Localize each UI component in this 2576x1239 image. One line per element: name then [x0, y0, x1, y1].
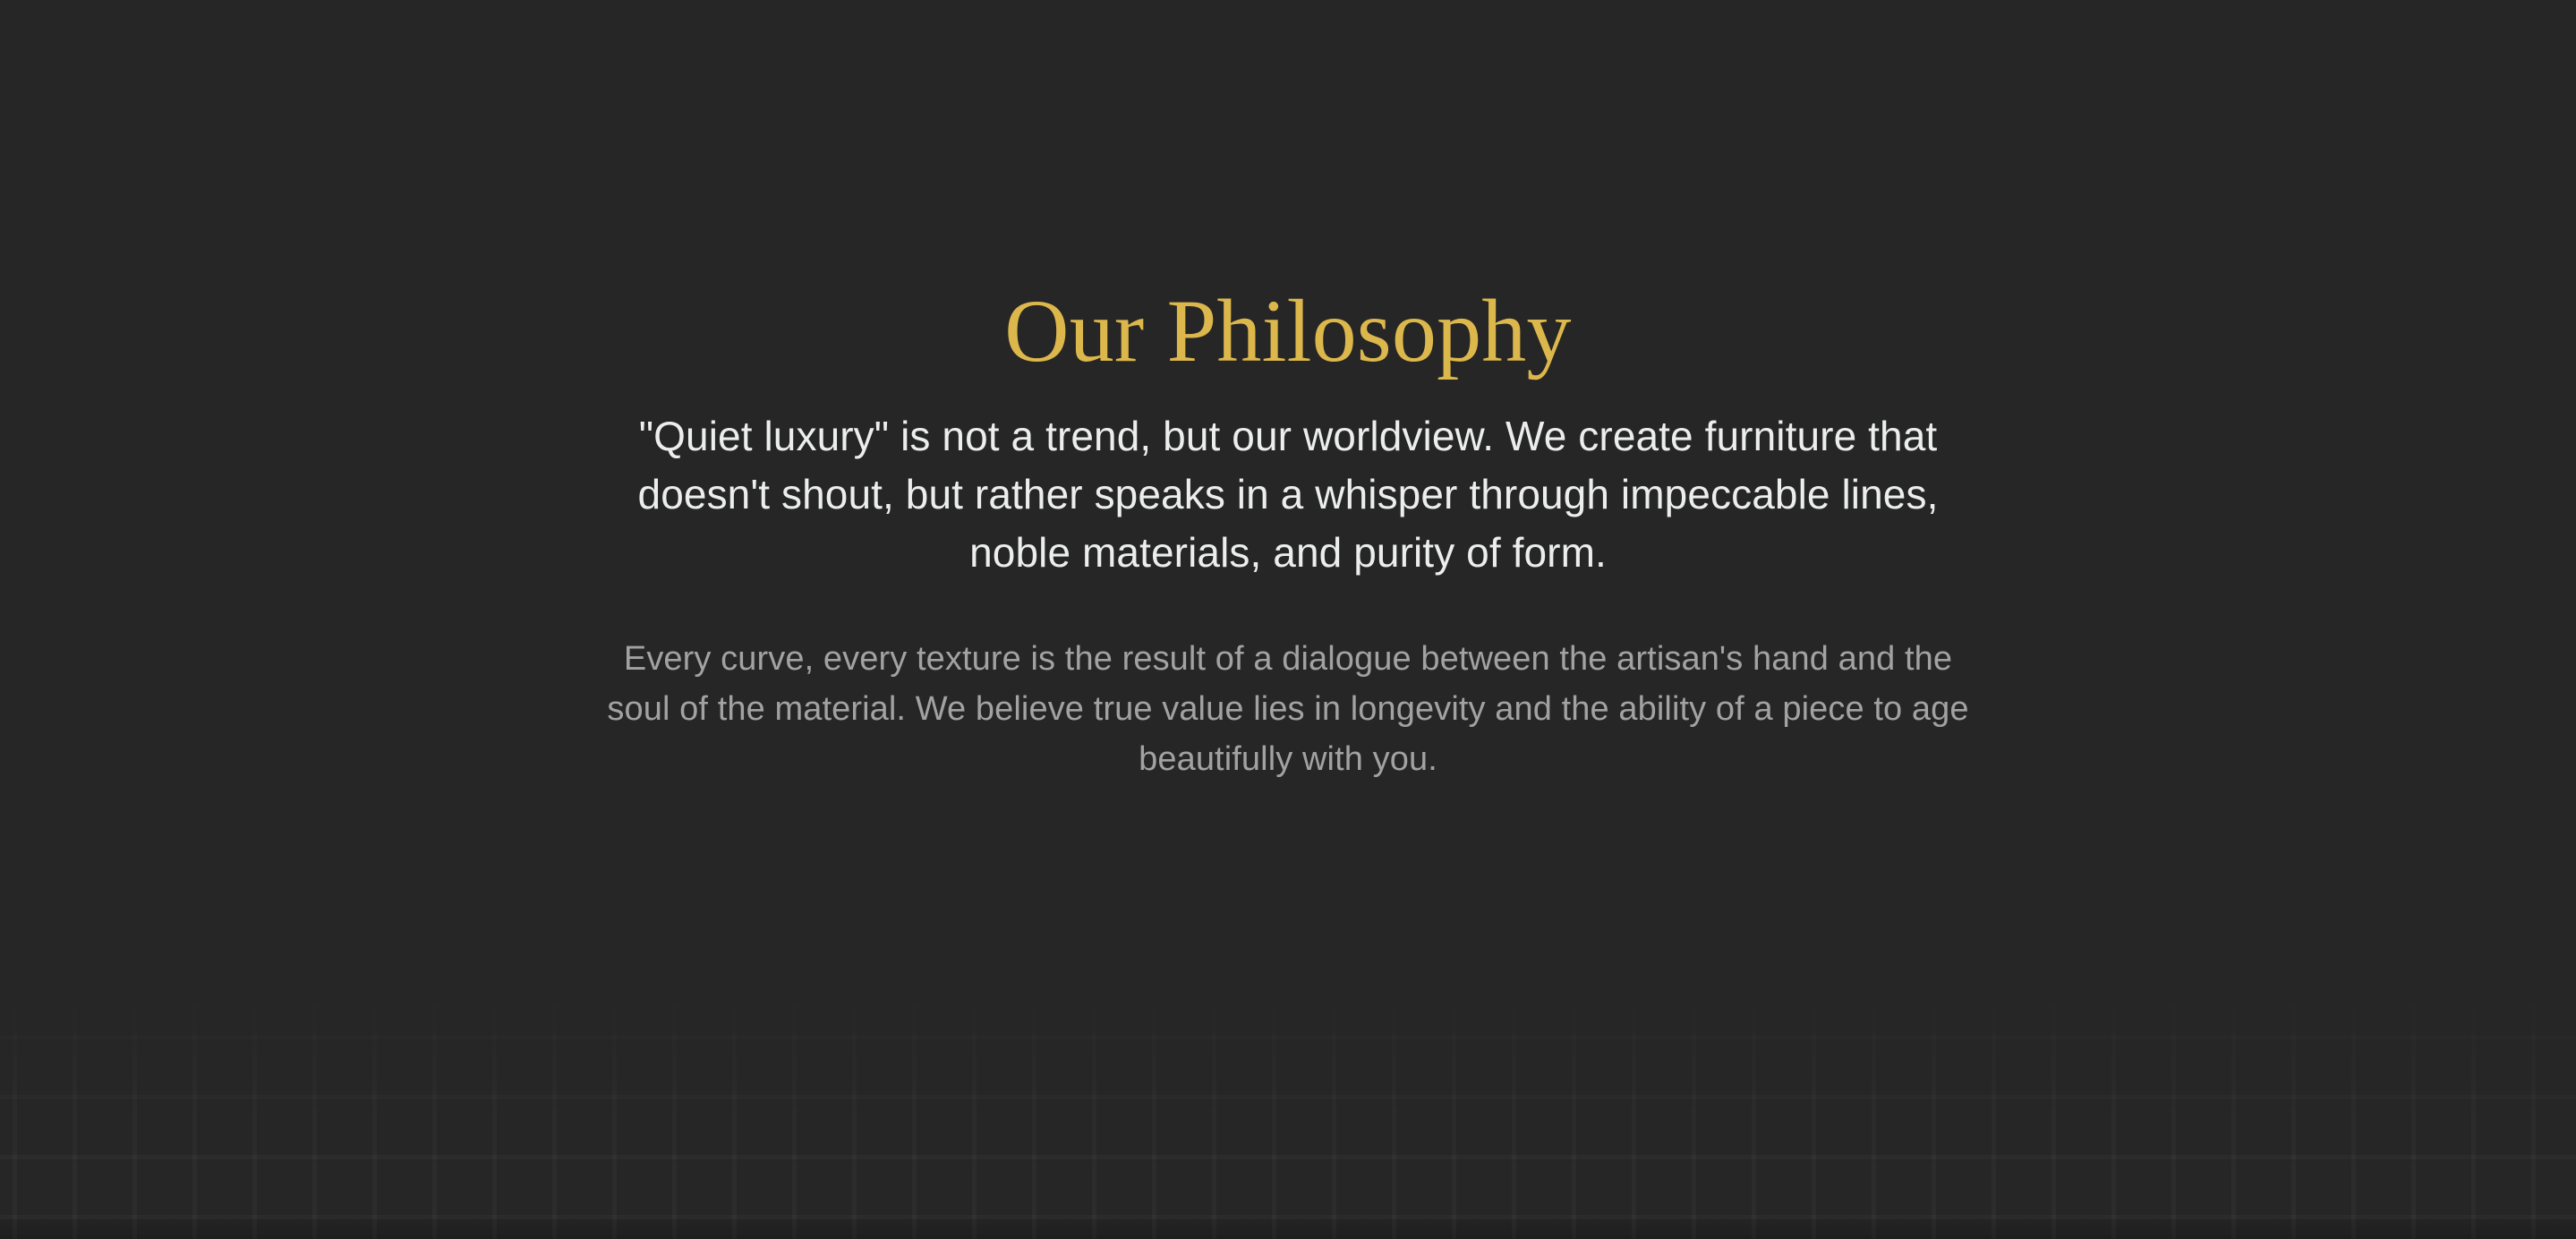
philosophy-content: Our Philosophy "Quiet luxury" is not a t… — [0, 0, 2576, 1239]
page-title: Our Philosophy — [1004, 285, 1571, 378]
philosophy-lead-paragraph: "Quiet luxury" is not a trend, but our w… — [635, 407, 1941, 582]
philosophy-support-paragraph: Every curve, every texture is the result… — [599, 634, 1977, 784]
philosophy-section: Our Philosophy "Quiet luxury" is not a t… — [0, 0, 2576, 1239]
